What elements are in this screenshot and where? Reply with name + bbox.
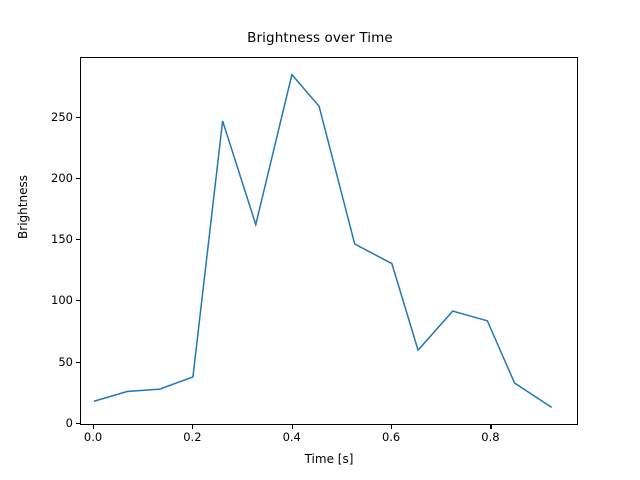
data-line-svg bbox=[81, 58, 577, 424]
x-tick-label: 0.4 bbox=[283, 430, 301, 444]
x-tick-mark bbox=[391, 425, 392, 429]
y-axis-tick-labels: 050100150200250 bbox=[30, 0, 73, 480]
x-tick-label: 0.8 bbox=[481, 430, 499, 444]
series-line-brightness bbox=[94, 75, 552, 408]
x-tick-label: 0.6 bbox=[382, 430, 400, 444]
y-tick-label: 100 bbox=[51, 293, 73, 307]
plot-area bbox=[80, 57, 578, 425]
x-tick-mark bbox=[490, 425, 491, 429]
y-tick-label: 250 bbox=[51, 110, 73, 124]
x-tick-label: 0.2 bbox=[183, 430, 201, 444]
chart-title: Brightness over Time bbox=[0, 30, 640, 46]
y-tick-label: 50 bbox=[58, 355, 73, 369]
x-tick-label: 0.0 bbox=[84, 430, 102, 444]
chart-figure: Brightness over Time Brightness 05010015… bbox=[0, 0, 640, 480]
y-tick-label: 0 bbox=[66, 416, 73, 430]
x-tick-mark bbox=[192, 425, 193, 429]
y-tick-label: 150 bbox=[51, 232, 73, 246]
x-tick-mark bbox=[292, 425, 293, 429]
y-tick-label: 200 bbox=[51, 171, 73, 185]
x-tick-mark bbox=[93, 425, 94, 429]
x-axis-label: Time [s] bbox=[80, 452, 578, 466]
y-axis-label: Brightness bbox=[16, 132, 30, 282]
